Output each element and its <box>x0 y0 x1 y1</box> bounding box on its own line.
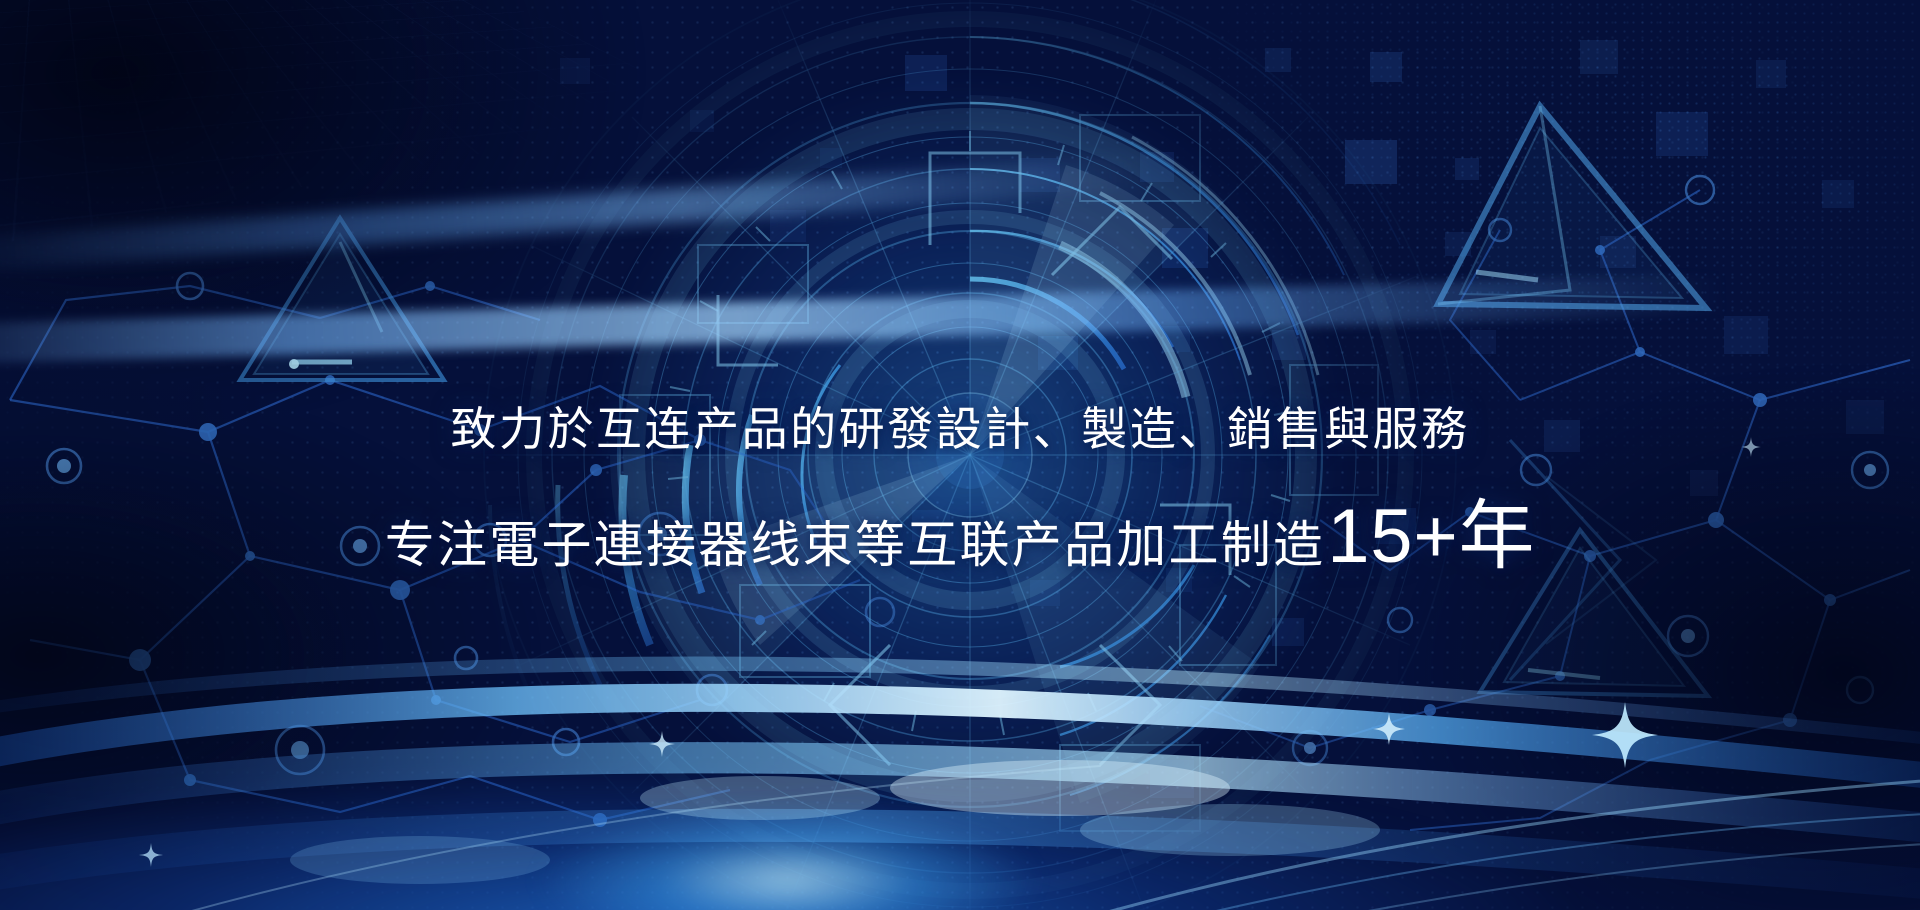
headline-line-2: 专注電子連接器线束等互联产品加工制造 15+ 年 <box>0 499 1920 575</box>
headline-block: 致力於互连产品的研發設計、製造、銷售與服務 专注電子連接器线束等互联产品加工制造… <box>0 406 1920 575</box>
four-point-star-icon <box>1590 700 1660 770</box>
four-point-star-icon <box>648 730 676 758</box>
four-point-star-icon <box>1372 712 1406 746</box>
headline-line-2-prefix: 专注電子連接器线束等互联产品加工制造 <box>385 520 1326 570</box>
hero-banner: 致力於互连产品的研發設計、製造、銷售與服務 专注電子連接器线束等互联产品加工制造… <box>0 0 1920 910</box>
headline-years-unit: 年 <box>1458 499 1535 575</box>
four-point-star-icon <box>138 842 164 868</box>
bottom-hotspot <box>461 740 1114 910</box>
headline-line-1: 致力於互连产品的研發設計、製造、銷售與服務 <box>0 406 1920 452</box>
headline-years-number: 15+ <box>1327 499 1458 575</box>
